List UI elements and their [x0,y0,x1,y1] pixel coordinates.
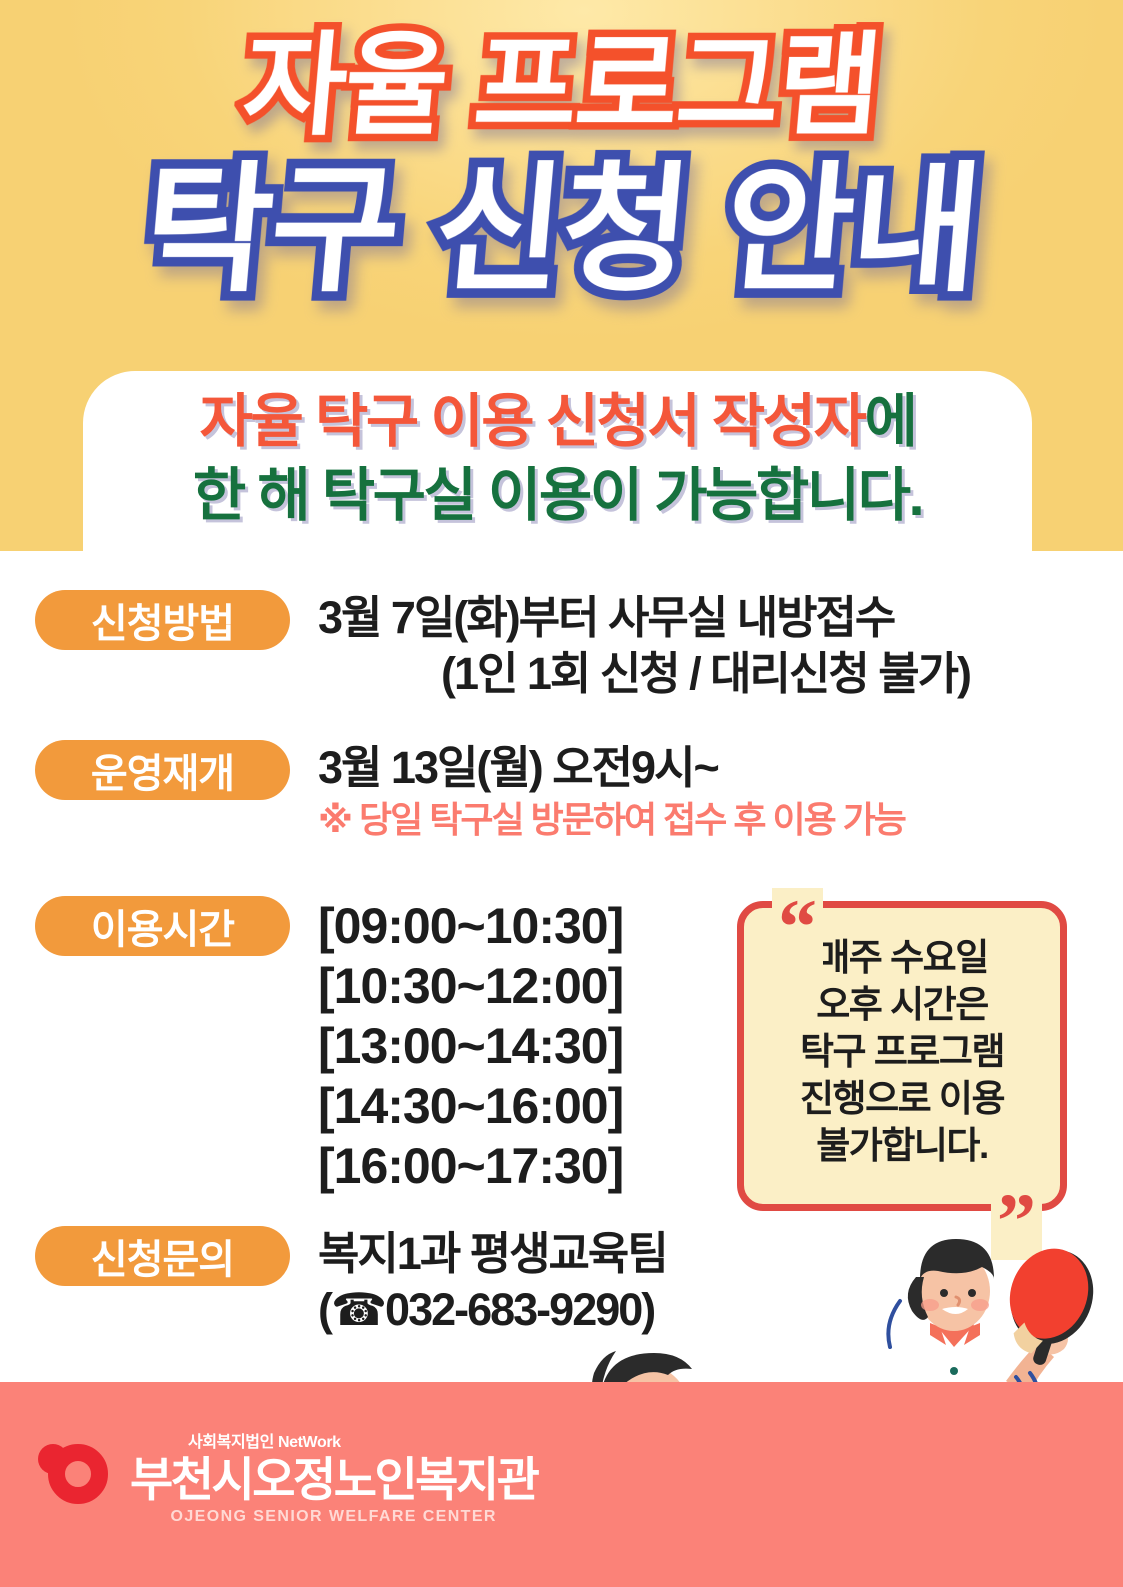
info-row-application-method: 신청방법 3월 7일(화)부터 사무실 내방접수 (1인 1회 신청 / 대리신… [0,590,1123,702]
logo-org-type: 사회복지법인 NetWork [188,1428,537,1452]
subtitle-emphasis-orange: 자율 탁구 이용 신청서 작성자 [200,389,865,454]
callout-line: 탁구 프로그램 [744,1028,1060,1075]
badge-application-method: 신청방법 [35,590,290,650]
application-method-line-2: (1인 1회 신청 / 대리신청 불가) [318,646,1123,702]
reopen-date: 3월 13일(월) 오전9시~ [318,740,1123,796]
callout-line: 진행으로 이용 [744,1075,1060,1122]
callout-line: 불가합니다. [744,1122,1060,1169]
badge-usage-hours: 이용시간 [35,896,290,956]
reopen-notice: ※ 당일 탁구실 방문하여 접수 후 이용 가능 [318,796,1123,844]
subtitle-panel: 자율 탁구 이용 신청서 작성자에 한 해 탁구실 이용이 가능합니다. [83,371,1032,552]
poster-root: 자율 프로그램 탁구 신청 안내 자율 탁구 이용 신청서 작성자에 한 해 탁… [0,0,1123,1587]
callout-line: 오후 시간은 [744,981,1060,1028]
quote-open-icon: “ [772,888,823,966]
subtitle-suffix-green: 에 [864,389,915,454]
subtitle-line-1: 자율 탁구 이용 신청서 작성자에 [83,371,1032,459]
footer-band: 사회복지법인 NetWork 부천시오정노인복지관 OJEONG SENIOR … [0,1382,1123,1587]
logo-org-name: 부천시오정노인복지관 [130,1454,537,1506]
info-row-body: 3월 13일(월) 오전9시~ ※ 당일 탁구실 방문하여 접수 후 이용 가능 [290,740,1123,844]
logo-text-block: 사회복지법인 NetWork 부천시오정노인복지관 OJEONG SENIOR … [130,1428,537,1526]
info-row-body: 3월 7일(화)부터 사무실 내방접수 (1인 1회 신청 / 대리신청 불가) [290,590,1123,702]
wednesday-notice-callout: “ ” 매주 수요일 오후 시간은 탁구 프로그램 진행으로 이용 불가합니다. [737,901,1067,1211]
badge-reopen: 운영재개 [35,740,290,800]
logo-mark-icon [38,1438,116,1516]
logo-org-name-english: OJEONG SENIOR WELFARE CENTER [130,1508,537,1526]
subtitle-line-2: 한 해 탁구실 이용이 가능합니다. [83,459,1032,533]
title-line-primary: 자율 프로그램 [0,30,1123,142]
title-line-secondary: 탁구 신청 안내 [0,160,1123,300]
logo-ring-shape [48,1444,108,1504]
info-row-reopen: 운영재개 3월 13일(월) 오전9시~ ※ 당일 탁구실 방문하여 접수 후 … [0,740,1123,844]
badge-contact: 신청문의 [35,1226,290,1286]
application-method-line-1: 3월 7일(화)부터 사무실 내방접수 [318,590,1123,646]
organization-logo: 사회복지법인 NetWork 부천시오정노인복지관 OJEONG SENIOR … [38,1428,537,1526]
